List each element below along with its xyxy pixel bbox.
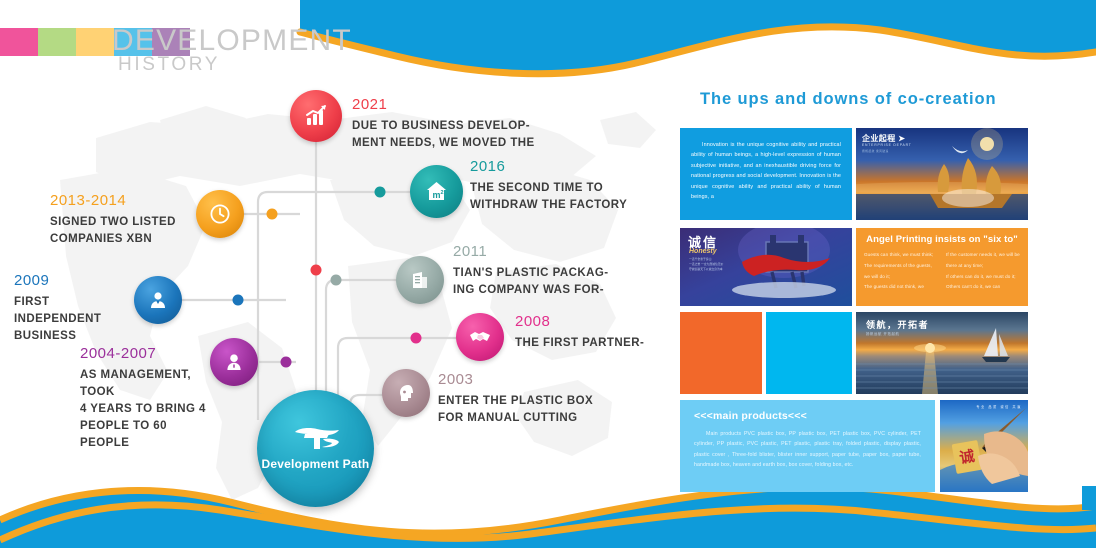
timeline-node-2016[interactable]: m 2 [410, 165, 463, 218]
card-calligraphy[interactable]: 诚 专业 品质 诚信 共赢 [940, 400, 1028, 492]
navigator-title-cn: 领航，开拓者 [866, 318, 929, 331]
swatch-3 [76, 28, 114, 56]
card-innovation-body: Innovation is the unique cognitive abili… [680, 128, 852, 202]
honesty-subtitle: 一诺千金重于泰山 一诺之誉 一言九鼎诚信无价 守诚信赢天下以诚立身为本 [689, 257, 723, 272]
enterprise-title-en: ENTERPRISE DEPART [862, 143, 912, 147]
swatch-1 [0, 28, 38, 56]
main-products-body: Main products PVC plastic box, PP plasti… [680, 422, 935, 471]
head-profile-icon [394, 381, 418, 405]
growth-chart-icon [303, 103, 329, 129]
timeline-year-2008: 2008 [515, 313, 644, 332]
bottom-wave-orange-stroke-front [0, 505, 1096, 540]
top-right-blue-accent [1082, 0, 1096, 40]
timeline-text-2021-line1: DUE TO BUSINESS DEVELOP- [352, 118, 535, 135]
timeline-text-2013-line1: SIGNED TWO LISTED [50, 214, 185, 231]
timeline-entry-2016: 2016 THE SECOND TIME TO WITHDRAW THE FAC… [470, 158, 627, 214]
timeline-node-2003[interactable] [382, 369, 430, 417]
timeline-text-2003-line2: FOR MANUAL CUTTING [438, 410, 593, 427]
bottom-wave-blue-front [0, 505, 1096, 548]
honesty-title-en: Honesty [689, 248, 717, 255]
timeline-entry-2013-2014: 2013-2014 SIGNED TWO LISTED COMPANIES XB… [50, 192, 185, 248]
page-title: DEVELOPMENT [112, 24, 352, 57]
hub-label: Development Path [262, 457, 370, 471]
timeline-node-2008[interactable] [456, 313, 504, 361]
timeline-text-2003-line1: ENTER THE PLASTIC BOX [438, 393, 593, 410]
bottom-right-blue-accent [1082, 486, 1096, 510]
timeline-text-2011-line2: ING COMPANY WAS FOR- [453, 282, 609, 299]
card-main-products[interactable]: <<<main products<<< Main products PVC pl… [680, 400, 935, 492]
house-area-icon: m 2 [423, 178, 450, 205]
card-solid-cyan[interactable] [766, 312, 852, 394]
page-subtitle: HISTORY [118, 54, 220, 76]
timeline-node-2013-2014[interactable] [196, 190, 244, 238]
handshake-icon [467, 324, 493, 350]
card-enterprise-depart[interactable]: 企业起程 ➤ ENTERPRISE DEPART 扬帆起航 乘风破浪 [856, 128, 1028, 220]
ts-logo-icon [289, 426, 343, 452]
timeline-text-2009-line1: FIRST INDEPENDENT [14, 294, 126, 328]
card-honesty[interactable]: 诚信 Honesty 一诺千金重于泰山 一诺之誉 一言九鼎诚信无价 守诚信赢天下… [680, 228, 852, 306]
six-to-columns: Guests can think, we must think; The req… [856, 245, 1028, 293]
timeline-text-2004-line3: PEOPLE TO 60 PEOPLE [80, 418, 210, 452]
timeline-text-2013-line2: COMPANIES XBN [50, 231, 185, 248]
timeline-entry-2004-2007: 2004-2007 AS MANAGEMENT, TOOK 4 YEARS TO… [80, 345, 210, 452]
svg-text:2: 2 [440, 190, 443, 196]
main-products-title: <<<main products<<< [680, 400, 935, 422]
navigator-subtitle: 扬帆远航 开拓起航 [866, 331, 899, 336]
calligraphy-caption: 专业 品质 诚信 共赢 [976, 404, 1022, 409]
timeline-entry-2011: 2011 TIAN'S PLASTIC PACKAG- ING COMPANY … [453, 243, 609, 299]
clock-icon [207, 201, 233, 227]
timeline-text-2004-line1: AS MANAGEMENT, TOOK [80, 367, 210, 401]
timeline-text-2021-line2: MENT NEEDS, WE MOVED THE [352, 135, 535, 152]
six-to-right-column: If the customer needs it, we will be the… [946, 250, 1020, 293]
timeline-year-2011: 2011 [453, 243, 609, 262]
svg-text:m: m [432, 190, 440, 200]
card-solid-orange[interactable] [680, 312, 762, 394]
svg-text:诚: 诚 [958, 447, 976, 467]
timeline-node-2009[interactable] [134, 276, 182, 324]
timeline-text-2016-line1: THE SECOND TIME TO [470, 180, 627, 197]
development-path-hub[interactable]: Development Path [257, 390, 374, 507]
timeline-text-2008-line1: THE FIRST PARTNER- [515, 335, 644, 352]
six-to-left-column: Guests can think, we must think; The req… [864, 250, 938, 293]
timeline-text-2004-line2: 4 YEARS TO BRING 4 [80, 401, 210, 418]
timeline-text-2016-line2: WITHDRAW THE FACTORY [470, 197, 627, 214]
timeline-year-2013-2014: 2013-2014 [50, 192, 185, 211]
timeline-year-2003: 2003 [438, 371, 593, 390]
card-navigator[interactable]: 领航，开拓者 扬帆远航 开拓起航 [856, 312, 1028, 394]
timeline-node-2004-2007[interactable] [210, 338, 258, 386]
card-six-to[interactable]: Angel Printing insists on "six to" Guest… [856, 228, 1028, 306]
timeline-text-2011-line1: TIAN'S PLASTIC PACKAG- [453, 265, 609, 282]
timeline-entry-2008: 2008 THE FIRST PARTNER- [515, 313, 644, 352]
card-innovation[interactable]: Innovation is the unique cognitive abili… [680, 128, 852, 220]
right-panel-title: The ups and downs of co-creation [700, 90, 996, 109]
timeline-entry-2021: 2021 DUE TO BUSINESS DEVELOP- MENT NEEDS… [352, 96, 535, 152]
timeline-year-2004-2007: 2004-2007 [80, 345, 210, 364]
calligraphy-hand-photo: 诚 [940, 400, 1028, 492]
timeline-entry-2009: 2009 FIRST INDEPENDENT BUSINESS [14, 272, 126, 345]
timeline-year-2016: 2016 [470, 158, 627, 177]
building-icon [408, 268, 432, 292]
timeline-text-2009-line2: BUSINESS [14, 328, 126, 345]
timeline-node-2011[interactable] [396, 256, 444, 304]
infographic-page: DEVELOPMENT HISTORY 2021 DUE TO BUSINESS… [0, 0, 1096, 548]
six-to-title: Angel Printing insists on "six to" [856, 228, 1028, 245]
businessperson-icon [146, 288, 170, 312]
timeline-node-2021[interactable] [290, 90, 342, 142]
timeline-entry-2003: 2003 ENTER THE PLASTIC BOX FOR MANUAL CU… [438, 371, 593, 427]
timeline-year-2021: 2021 [352, 96, 535, 115]
user-avatar-icon [222, 350, 246, 374]
timeline-year-2009: 2009 [14, 272, 126, 291]
enterprise-subtitle: 扬帆起航 乘风破浪 [862, 149, 889, 153]
swatch-2 [38, 28, 76, 56]
